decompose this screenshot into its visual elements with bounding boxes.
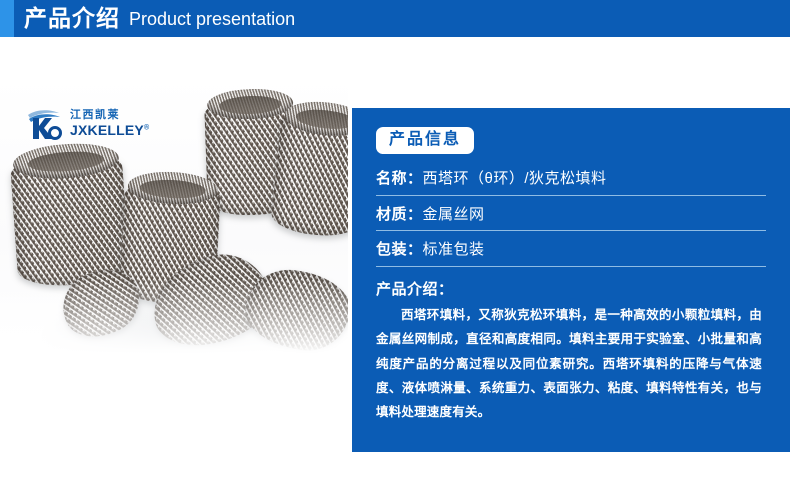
spec-label: 包装： [376,241,423,258]
spec-row-material: 材质：金属丝网 [376,206,766,232]
spec-value: 标准包装 [423,241,485,258]
product-info-badge: 产品信息 [376,127,474,154]
page-title: 产品介绍 Product presentation [24,0,295,37]
logo-mark-icon [26,106,64,140]
logo-company-cn: 江西凯莱 [70,110,149,121]
spec-label: 名称： [376,170,423,187]
product-info-panel: 产品信息 名称：西塔环（θ环）/狄克松填料 材质：金属丝网 包装：标准包装 产品… [352,108,790,452]
spec-value: 金属丝网 [423,206,485,223]
spec-row-name: 名称：西塔环（θ环）/狄克松填料 [376,170,766,196]
theta-ring-cylinder [270,107,348,240]
spec-label: 材质： [376,206,423,223]
header-accent-bar [0,0,14,37]
page-title-cn: 产品介绍 [24,7,120,30]
logo-company-en: JXKELLEY® [70,123,149,137]
image-fade-overlay [0,279,348,375]
product-spec-list: 名称：西塔环（θ环）/狄克松填料 材质：金属丝网 包装：标准包装 [376,170,766,267]
logo-text: 江西凯莱 JXKELLEY® [70,110,149,137]
spec-value: 西塔环（θ环）/狄克松填料 [423,170,607,187]
company-logo: 江西凯莱 JXKELLEY® [26,104,150,142]
page-title-en: Product presentation [129,10,295,28]
description-text: 西塔环填料，又称狄克松环填料，是一种高效的小颗粒填料，由金属丝网制成，直径和高度… [376,303,762,425]
registered-trademark-icon: ® [144,124,149,131]
theta-ring-cylinder [10,149,131,288]
page-header-banner: 产品介绍 Product presentation [0,0,790,37]
spec-row-packaging: 包装：标准包装 [376,241,766,267]
description-heading: 产品介绍： [376,281,766,299]
